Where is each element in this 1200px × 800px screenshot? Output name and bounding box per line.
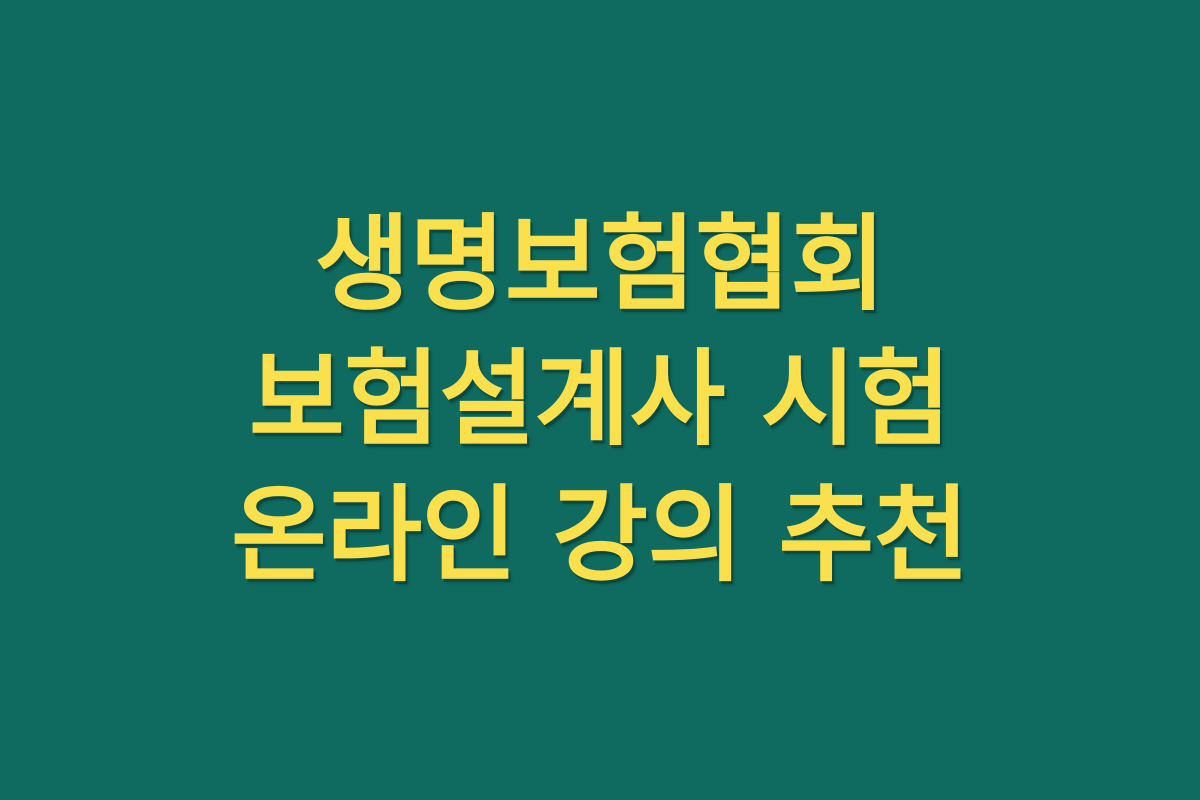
page-title: 생명보험협회 보험설계사 시험 온라인 강의 추천 — [100, 197, 1100, 603]
headline-block: 생명보험협회 보험설계사 시험 온라인 강의 추천 — [100, 197, 1100, 603]
text-banner: 생명보험협회 보험설계사 시험 온라인 강의 추천 — [0, 0, 1200, 800]
